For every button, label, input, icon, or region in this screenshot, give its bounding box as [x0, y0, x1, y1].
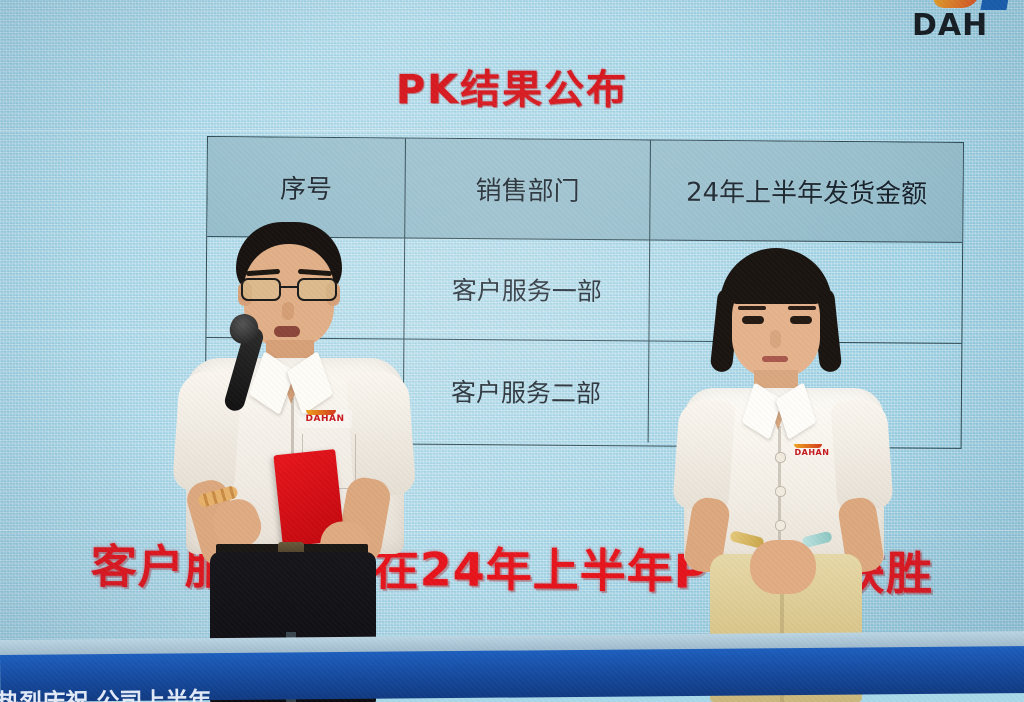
man-nose — [282, 302, 294, 320]
table-cell-department: 客户服务二部 — [404, 340, 650, 443]
woman-nose — [770, 330, 781, 348]
logo-wordmark: DAH — [912, 8, 988, 40]
shirt-logo-dahan: DAHAN — [298, 410, 352, 428]
dahan-corner-logo: DAH — [904, 0, 1024, 40]
table-header-amount: 24年上半年发货金额 — [650, 140, 963, 242]
woman-clasped-hands — [750, 540, 816, 594]
man-mouth — [274, 326, 300, 337]
table-header-department: 销售部门 — [405, 139, 651, 241]
woman-sleeve-right — [830, 398, 894, 512]
shirt-logo-dahan: DAHAN — [788, 444, 836, 460]
stage-band-text: 热烈庆祝 公司上半年 — [0, 678, 556, 702]
glasses-lens-right — [297, 278, 337, 301]
woman-eyebrow-right — [788, 306, 816, 310]
slide-title: PK结果公布 — [0, 57, 1024, 115]
woman-sleeve-left — [672, 398, 736, 512]
woman-blouse-button — [775, 452, 786, 463]
glasses-bridge — [281, 286, 297, 288]
woman-fringe — [730, 270, 822, 304]
woman-blouse-button — [775, 520, 786, 531]
woman-mouth — [762, 356, 788, 362]
screenshot-root: DAH PK结果公布 序号 销售部门 24年上半年发货金额 客户服务一部 万元 … — [0, 0, 1024, 702]
man-glasses — [240, 278, 340, 302]
woman-eye-right — [790, 316, 812, 324]
logo-swoosh-icon — [930, 0, 979, 8]
table-cell-department: 客户服务一部 — [404, 239, 650, 342]
woman-eyebrow-left — [738, 306, 766, 310]
led-panel-seam — [0, 130, 1024, 131]
person-speaker: DAHAN — [170, 222, 420, 702]
glasses-lens-left — [241, 278, 281, 301]
stage-blue-band: 热烈庆祝 公司上半年 — [0, 646, 1024, 702]
woman-eye-left — [742, 316, 764, 324]
woman-blouse-button — [775, 486, 786, 497]
